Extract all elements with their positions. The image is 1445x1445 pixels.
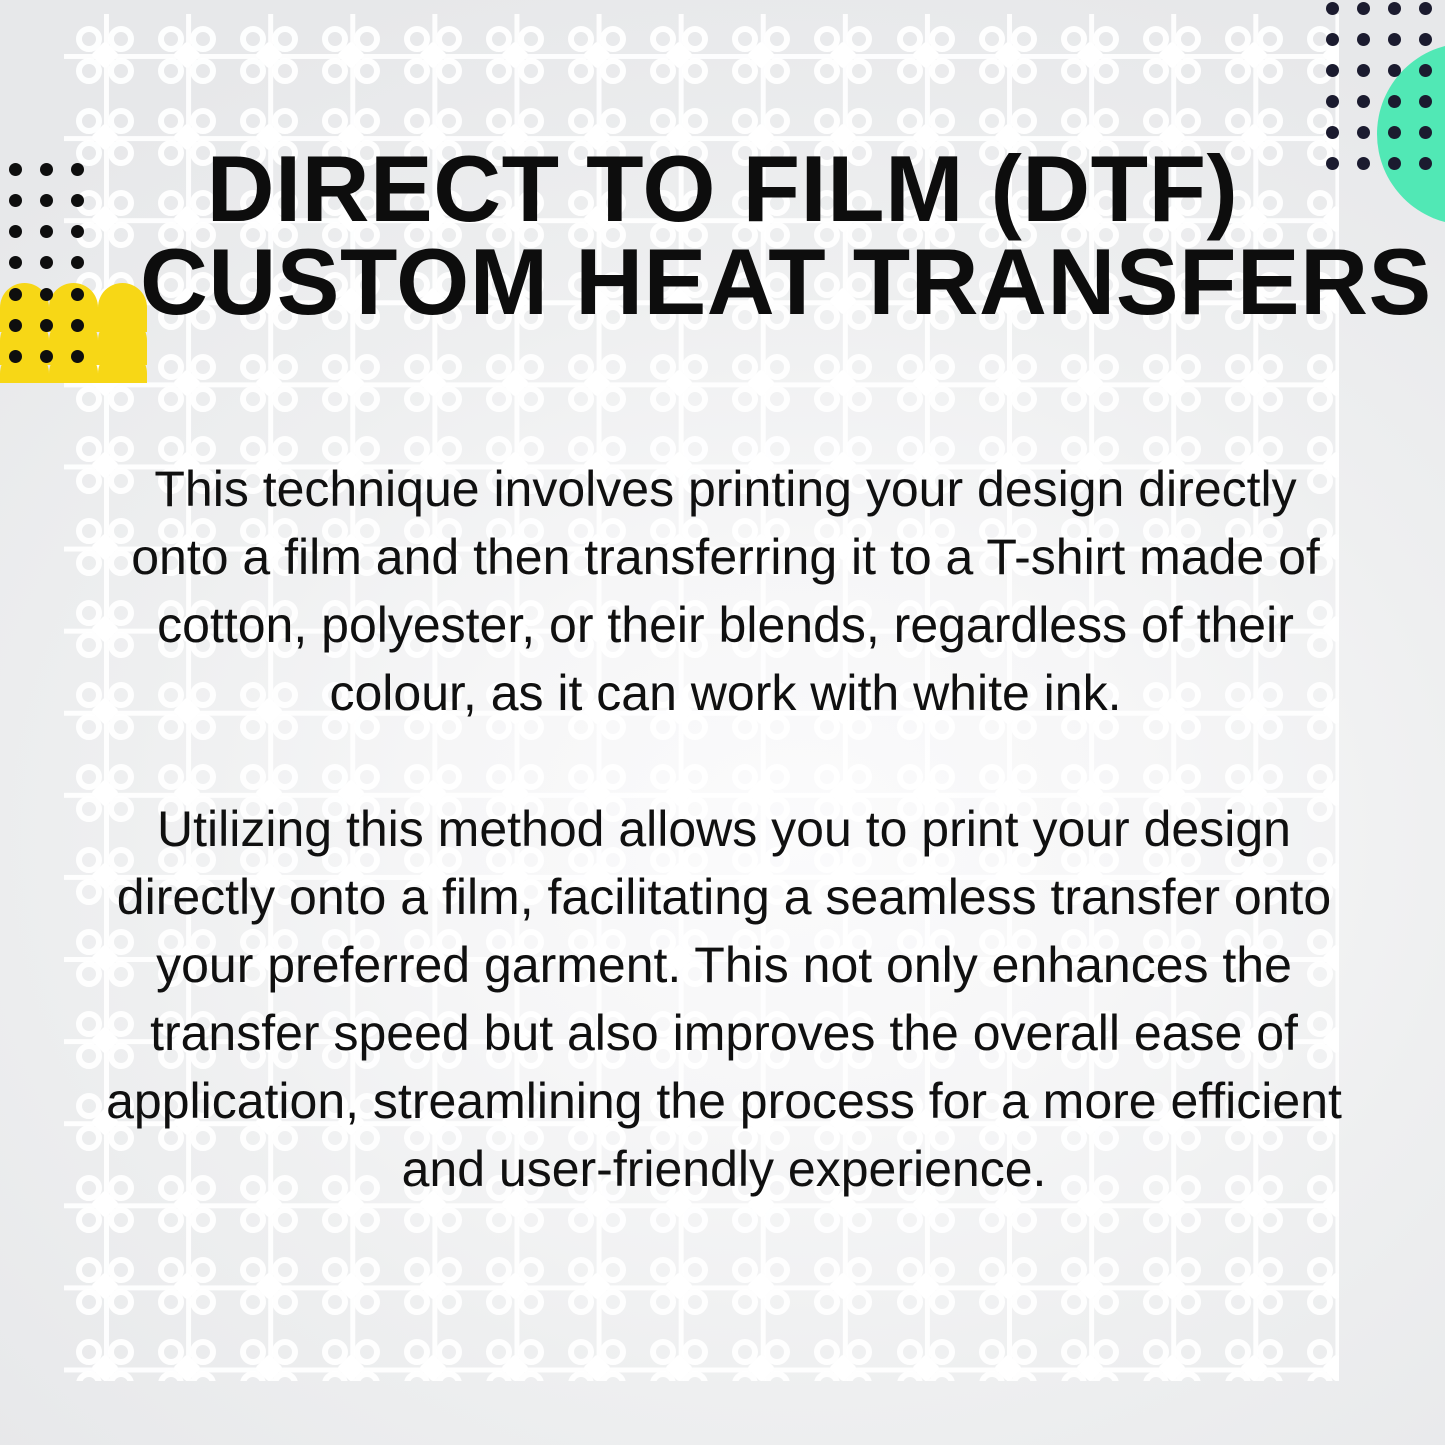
decorative-dot bbox=[71, 288, 84, 301]
page-title: DIRECT TO FILM (DTF) CUSTOM HEAT TRANSFE… bbox=[140, 142, 1305, 328]
black-dot-grid-left-overlay bbox=[9, 285, 99, 385]
decorative-dot bbox=[9, 350, 22, 363]
page-title-line-1: DIRECT TO FILM (DTF) bbox=[140, 142, 1305, 235]
decorative-dot bbox=[40, 350, 53, 363]
body-paragraph-1: This technique involves printing your de… bbox=[108, 455, 1343, 727]
decorative-dot bbox=[9, 319, 22, 332]
body-paragraph-2: Utilizing this method allows you to prin… bbox=[90, 795, 1358, 1203]
decorative-dot bbox=[71, 350, 84, 363]
page-title-line-2: CUSTOM HEAT TRANSFERS bbox=[140, 235, 1305, 328]
decorative-dot bbox=[9, 288, 22, 301]
content-column: DIRECT TO FILM (DTF) CUSTOM HEAT TRANSFE… bbox=[0, 0, 1445, 1445]
decorative-dot bbox=[71, 319, 84, 332]
decorative-dot bbox=[40, 288, 53, 301]
decorative-dot bbox=[40, 319, 53, 332]
poster-canvas: DIRECT TO FILM (DTF) CUSTOM HEAT TRANSFE… bbox=[0, 0, 1445, 1445]
